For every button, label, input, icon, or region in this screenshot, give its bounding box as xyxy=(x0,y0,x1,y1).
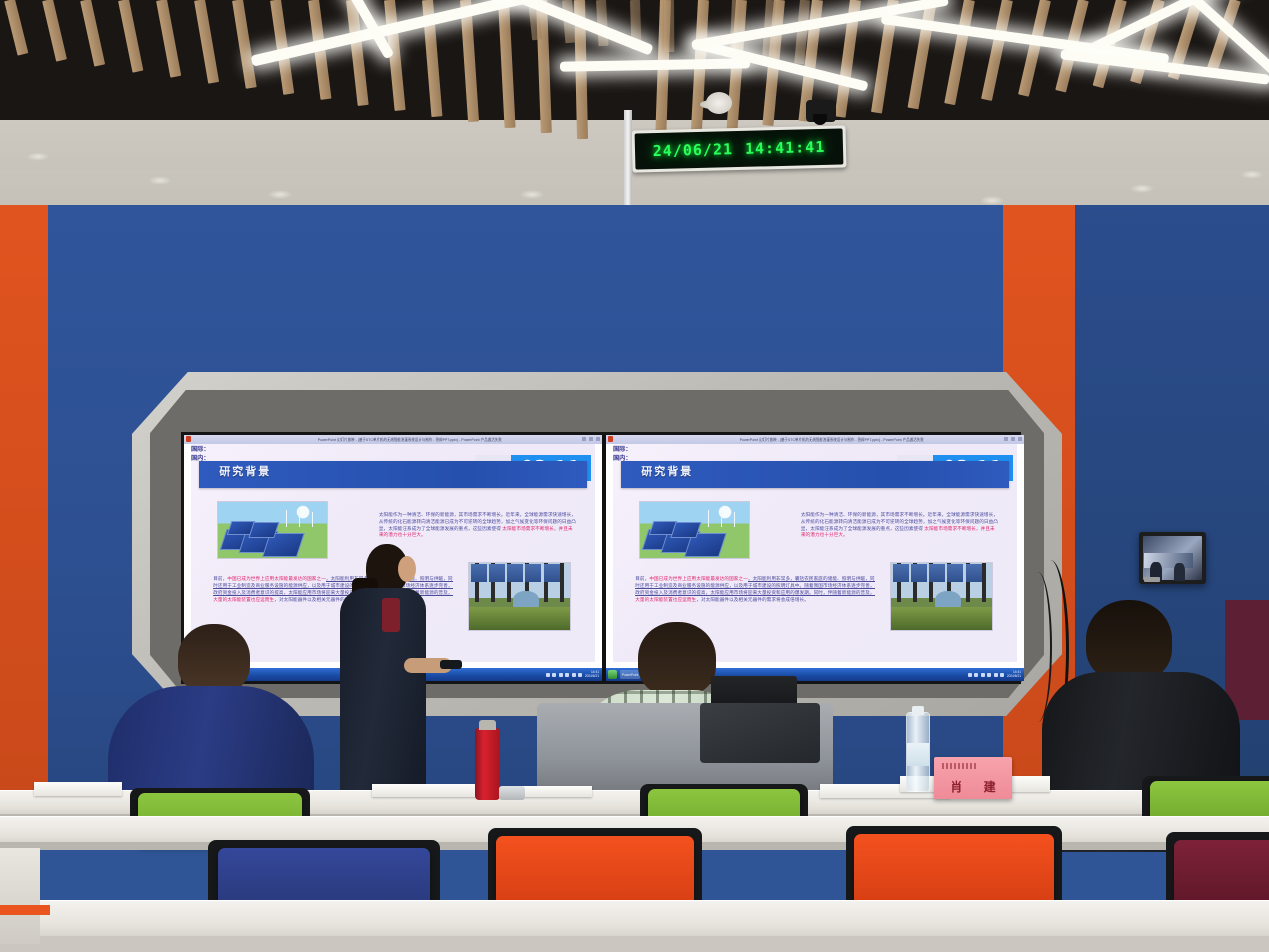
desk-left-accent xyxy=(0,905,50,915)
recessed-downlight xyxy=(268,190,292,199)
paper-stack-1 xyxy=(34,782,122,796)
window-controls-right[interactable] xyxy=(1004,437,1022,441)
window-title-text: PowerPoint 幻灯片放映 - [基于STC单片机的无线智能浇灌系统设计与… xyxy=(318,437,502,443)
slide-image-solar-farm-person-right xyxy=(890,562,993,632)
recessed-downlight xyxy=(26,152,50,161)
desk-left-stub xyxy=(0,848,40,944)
dual-display-unit[interactable]: PowerPoint 幻灯片放映 - [基于STC单片机的无线智能浇灌系统设计与… xyxy=(181,432,1021,684)
security-camera-icon xyxy=(806,100,836,122)
slide-text-domestic-1: 目前， xyxy=(213,576,227,581)
taskbar-item-powerpoint-right[interactable]: PowerPoint xyxy=(620,670,640,679)
tray-chevron-icon xyxy=(578,673,582,677)
display-cable-2 xyxy=(1024,572,1052,722)
paper-stack-3 xyxy=(520,786,592,797)
slide-label-international: 国际： xyxy=(191,444,595,453)
recessed-downlight xyxy=(1130,184,1154,193)
slide-image-solar-array xyxy=(217,501,328,560)
paper-stack-2 xyxy=(372,784,492,797)
taskbar-clock-right[interactable]: 14:41 2024/6/21 xyxy=(1007,671,1021,678)
slide-text-domestic-hl-1-right: 中国已成为世界上应用太阳能最发达的国家之一 xyxy=(649,576,748,581)
powerpoint-icon-right xyxy=(608,436,613,442)
taskbar-clock[interactable]: 14:41 2024/6/21 xyxy=(585,671,599,678)
monitor-brand-label xyxy=(1144,577,1160,582)
taskbar-clock-date-right: 2024/6/21 xyxy=(1007,674,1021,678)
room-photo-scene: 24/06/21 14:41:41 PowerPoint 幻灯片放映 - [基于… xyxy=(0,0,1269,952)
system-tray-right[interactable]: 14:41 2024/6/21 xyxy=(968,671,1024,678)
water-bottle-label xyxy=(907,743,929,766)
window-title-text-right: PowerPoint 幻灯片放映 - [基于STC单片机的无线智能浇灌系统设计与… xyxy=(740,437,924,443)
tray-network-icon xyxy=(546,673,550,677)
placard-logo xyxy=(942,763,976,769)
slide-image-solar-array-right xyxy=(639,501,750,560)
name-placard: 肖 建 xyxy=(934,757,1012,799)
attendee-left-head xyxy=(178,624,250,694)
slide-text-domestic-hl-1: 中国已成为世界上应用太阳能最发达的国家之一 xyxy=(227,576,326,581)
recessed-downlight xyxy=(148,176,172,185)
presentation-clicker[interactable] xyxy=(440,660,462,669)
podium-equipment-panel xyxy=(700,703,820,763)
window-controls[interactable] xyxy=(582,437,600,441)
start-button-icon-right[interactable] xyxy=(608,670,617,679)
slide-image-solar-farm-person xyxy=(468,562,571,632)
presenter-face xyxy=(398,556,416,582)
water-bottle xyxy=(906,712,930,792)
led-clock-display: 24/06/21 14:41:41 xyxy=(632,125,847,172)
tray-shield-icon xyxy=(572,673,576,677)
system-tray[interactable]: 14:41 2024/6/21 xyxy=(546,671,602,678)
powerpoint-window-titlebar: PowerPoint 幻灯片放映 - [基于STC单片机的无线智能浇灌系统设计与… xyxy=(184,435,602,444)
ceiling-speaker-icon xyxy=(706,92,732,114)
recessed-downlight xyxy=(980,196,1004,205)
taskbar-clock-date: 2024/6/21 xyxy=(585,674,599,678)
slide-text-domestic-1-right: 目前， xyxy=(635,576,649,581)
presenter-lanyard xyxy=(382,598,400,632)
recessed-downlight xyxy=(1240,170,1264,179)
slide-text-domestic-hl-2-right: 大量的太阳能装置也应运而生 xyxy=(635,597,696,602)
slide-title-right: 研究背景 xyxy=(641,463,693,479)
slide-title: 研究背景 xyxy=(219,463,271,479)
attendee-center-head xyxy=(638,622,716,696)
tray-cloud-icon xyxy=(565,673,569,677)
placard-name-text: 肖 建 xyxy=(941,778,1004,795)
tea-cup xyxy=(499,786,525,800)
wall-mounted-camera-monitor[interactable] xyxy=(1139,532,1206,584)
ceiling xyxy=(0,0,1269,215)
slide-text-domestic-hl-2: 大量的太阳能装置也应运而生 xyxy=(213,597,274,602)
recessed-downlight xyxy=(520,190,544,199)
attendee-right-head xyxy=(1086,600,1172,682)
desk-row-front xyxy=(0,900,1269,941)
tray-volume-icon xyxy=(552,673,556,677)
led-clock-date: 24/06/21 xyxy=(653,140,734,160)
tray-battery-icon xyxy=(559,673,563,677)
desk-row-front-edge xyxy=(0,936,1269,952)
ceiling-slat xyxy=(664,0,674,52)
powerpoint-icon xyxy=(186,436,191,442)
slide-text-domestic-3-right: ，对太阳能器件以及相关元器件的需求将会成倍增长。 xyxy=(696,597,809,602)
red-thermos-bottle xyxy=(475,728,500,800)
slide-label-international-right: 国际： xyxy=(613,444,1017,453)
camera-feed-screen xyxy=(1143,536,1202,580)
led-clock-time: 14:41:41 xyxy=(745,138,826,158)
powerpoint-window-titlebar-right: PowerPoint 幻灯片放映 - [基于STC单片机的无线智能浇灌系统设计与… xyxy=(606,435,1024,444)
wall-stripe-orange-left xyxy=(0,205,48,845)
